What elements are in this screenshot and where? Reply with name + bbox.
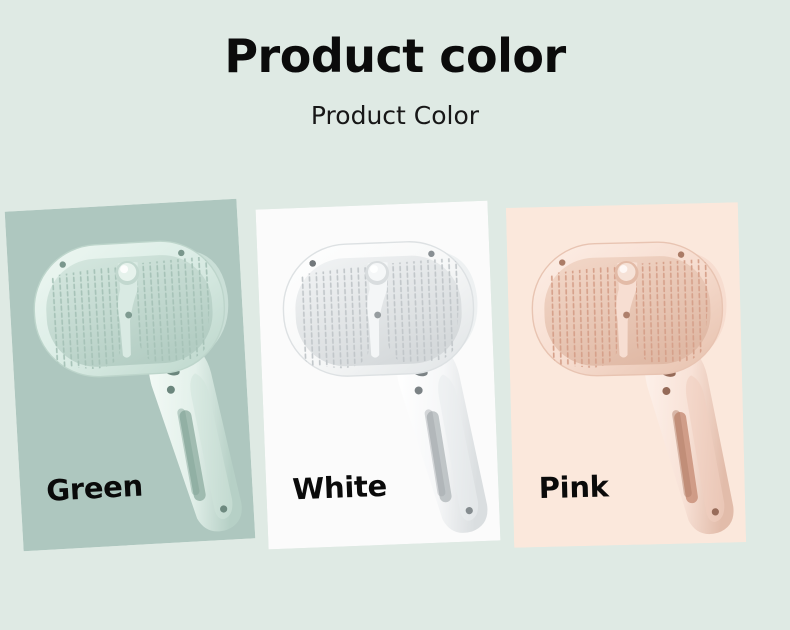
panel-label-pink: Pink xyxy=(538,469,609,505)
panel-label-white: White xyxy=(292,469,388,507)
panel-label-green: Green xyxy=(45,468,143,507)
color-panel-green[interactable]: Green xyxy=(5,199,256,551)
header: Product color Product Color xyxy=(0,0,790,130)
color-panels: Green xyxy=(0,205,790,575)
color-panel-white[interactable]: White xyxy=(256,201,501,550)
color-panel-pink[interactable]: Pink xyxy=(506,202,746,548)
page-title: Product color xyxy=(0,32,790,80)
page-subtitle: Product Color xyxy=(0,102,790,130)
